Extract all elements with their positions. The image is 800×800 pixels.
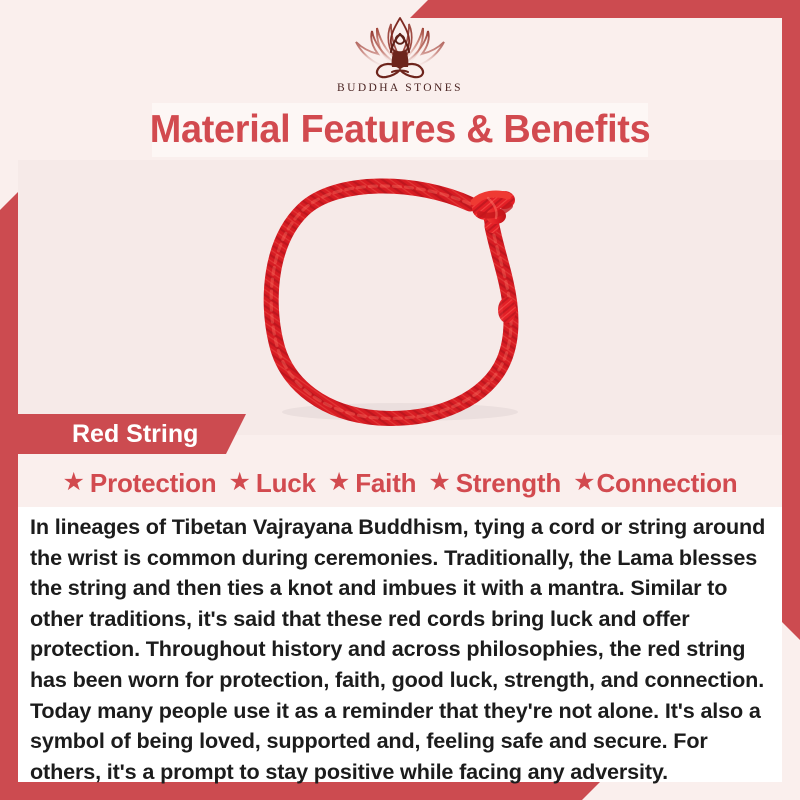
benefit-label: Faith <box>355 468 416 499</box>
benefit-item: ★ Strength <box>422 468 567 499</box>
page-title: Material Features & Benefits <box>150 108 651 152</box>
hero-product-image <box>18 160 782 435</box>
lotus-meditation-icon <box>334 12 466 80</box>
benefit-item: ★ Faith <box>322 468 423 499</box>
benefits-row: ★ Protection ★ Luck ★ Faith ★ Strength ★… <box>18 462 782 504</box>
title-banner: Material Features & Benefits <box>152 103 648 157</box>
benefit-item: ★ Connection <box>567 468 743 499</box>
material-name-label: Red String <box>72 420 198 449</box>
description-text: In lineages of Tibetan Vajrayana Buddhis… <box>30 512 770 787</box>
benefit-label: Protection <box>90 468 217 499</box>
benefit-label: Luck <box>256 468 316 499</box>
red-string-bracelet-illustration <box>18 160 782 435</box>
infographic-card: BUDDHA STONES Material Features & Benefi… <box>0 0 800 800</box>
star-icon: ★ <box>63 470 85 495</box>
material-name-ribbon: Red String <box>18 414 246 454</box>
decorative-band-left <box>0 192 18 800</box>
brand-logo: BUDDHA STONES <box>0 12 800 94</box>
decorative-band-right <box>782 0 800 640</box>
benefit-item: ★ Luck <box>223 468 322 499</box>
bracelet-knot <box>472 191 515 224</box>
brand-wordmark: BUDDHA STONES <box>0 82 800 94</box>
star-icon: ★ <box>229 470 251 495</box>
benefit-label: Strength <box>456 468 561 499</box>
star-icon: ★ <box>328 470 350 495</box>
benefit-label: Connection <box>596 468 737 499</box>
description-panel: In lineages of Tibetan Vajrayana Buddhis… <box>18 507 782 782</box>
star-icon: ★ <box>428 470 450 495</box>
star-icon: ★ <box>573 470 595 495</box>
benefit-item: ★ Protection <box>57 468 223 499</box>
